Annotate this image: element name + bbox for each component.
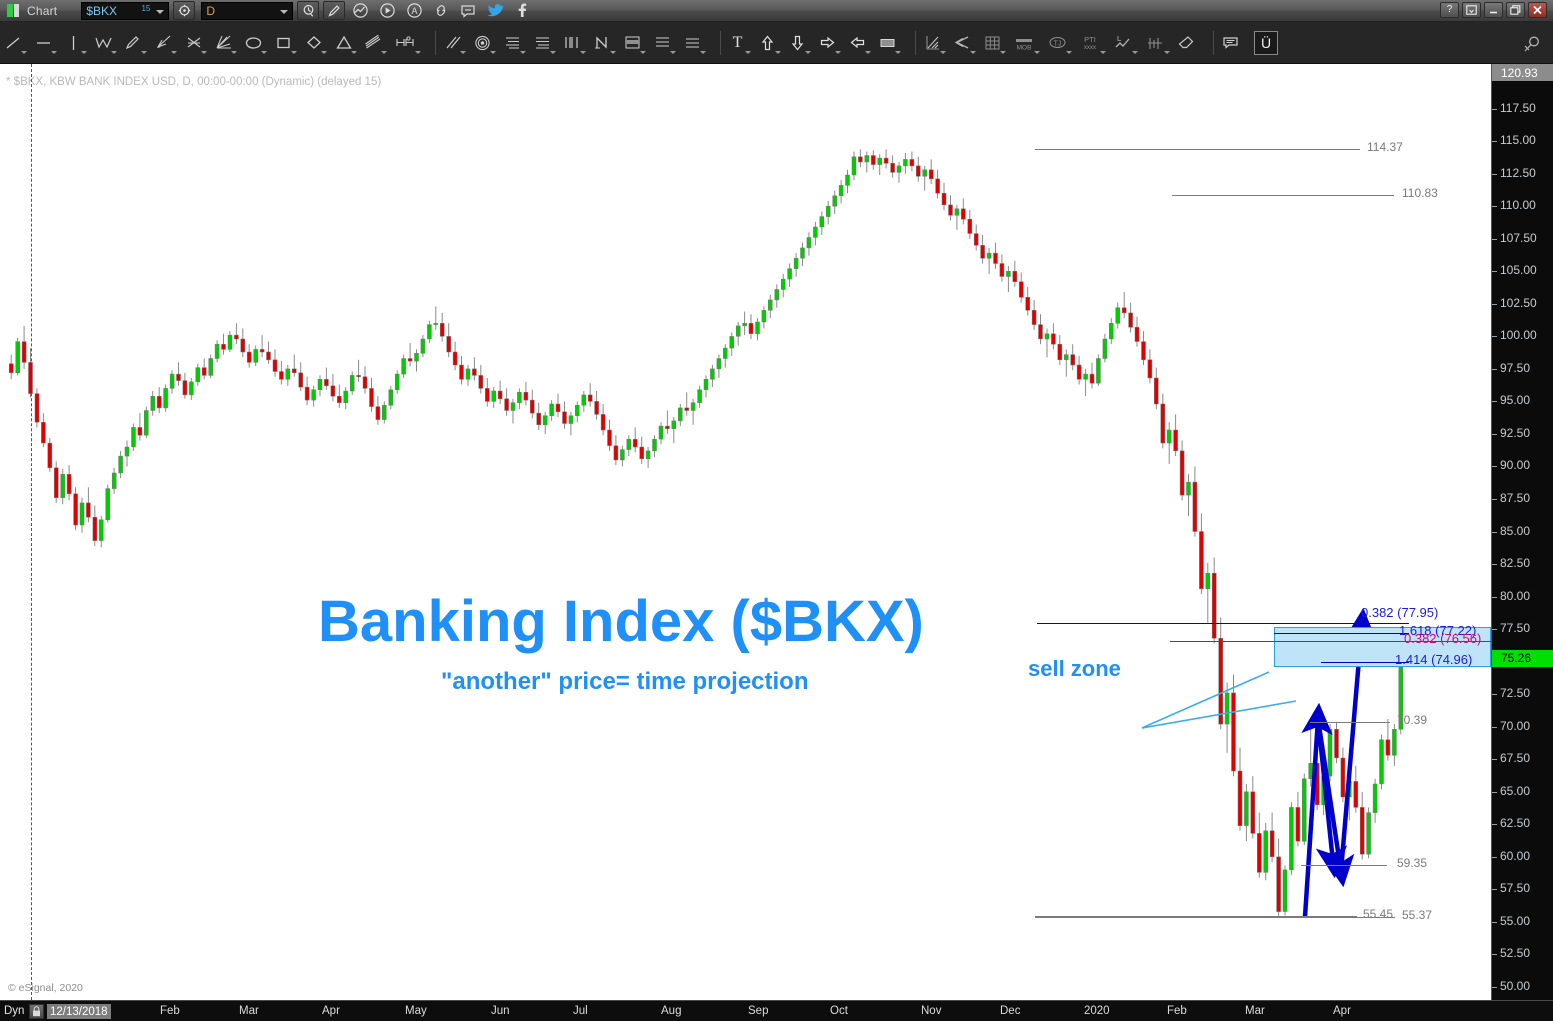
facebook-share-icon[interactable] <box>510 1 534 21</box>
level-55-37-line[interactable] <box>1035 917 1395 918</box>
level-59-35-label: 59.35 <box>1397 856 1427 870</box>
chevron-down-icon[interactable] <box>231 51 237 54</box>
arrow-up-tool[interactable] <box>758 28 777 58</box>
price-tick-67-50: 67.50 <box>1492 759 1553 760</box>
date-tick-sep: Sep <box>748 1005 768 1017</box>
chevron-down-icon[interactable] <box>1164 51 1170 54</box>
parallel-channel-tool[interactable] <box>364 28 383 58</box>
chevron-down-icon[interactable] <box>51 51 57 54</box>
date-tick-apr: Apr <box>1333 1005 1351 1017</box>
horizontal-line-tool[interactable] <box>34 28 53 58</box>
symbol-delay-superscript: 15 <box>141 4 150 13</box>
price-tick-80-00: 80.00 <box>1492 597 1553 598</box>
chevron-down-icon[interactable] <box>940 51 946 54</box>
price-tick-label: 92.50 <box>1500 426 1530 440</box>
pti-tool[interactable]: PTIxxxx <box>1079 28 1102 58</box>
chart-subtitle-annotation[interactable]: "another" price= time projection <box>441 668 809 696</box>
chevron-down-icon[interactable] <box>460 51 466 54</box>
price-tick-92-50: 92.50 <box>1492 434 1553 435</box>
date-tick-mar: Mar <box>1245 1005 1265 1017</box>
price-tick-label: 105.00 <box>1500 263 1537 277</box>
zigzag-tool[interactable] <box>94 28 113 58</box>
candlestick-series <box>0 64 1491 1000</box>
comment-icon[interactable] <box>456 1 480 21</box>
price-tick-77-50: 77.50 <box>1492 629 1553 630</box>
drawing-overlay <box>0 64 1491 1000</box>
price-tick-label: 115.00 <box>1500 133 1536 147</box>
date-tick-nov: Nov <box>921 1005 941 1017</box>
chevron-down-icon[interactable] <box>1100 51 1106 54</box>
price-tick-label: 50.00 <box>1500 979 1530 993</box>
chevron-down-icon[interactable] <box>520 51 526 54</box>
svg-text:L: L <box>1117 36 1122 43</box>
price-tick-label: 55.00 <box>1500 914 1530 928</box>
chevron-down-icon[interactable] <box>321 51 327 54</box>
date-tick-feb: Feb <box>1167 1005 1187 1017</box>
chevron-down-icon[interactable] <box>670 51 676 54</box>
rectangle-tool[interactable] <box>274 28 293 58</box>
cycle-lines-tool[interactable] <box>953 28 972 58</box>
arrow-down-tool[interactable] <box>788 28 807 58</box>
arrow-left-tool[interactable] <box>848 28 867 58</box>
triangle-tool[interactable] <box>334 28 353 58</box>
chart-title-annotation[interactable]: Banking Index ($BKX) <box>318 588 924 655</box>
level-59-35-line[interactable] <box>1301 865 1387 866</box>
level-55-45-label: 55.45 <box>1363 907 1393 921</box>
price-tick-label: 90.00 <box>1500 458 1530 472</box>
undo-toggle-tool[interactable]: Ü <box>1254 31 1278 55</box>
price-tick-95-00: 95.00 <box>1492 401 1553 402</box>
price-tick-87-50: 87.50 <box>1492 499 1553 500</box>
price-tick-label: 62.50 <box>1500 816 1530 830</box>
date-tick-jun: Jun <box>491 1005 510 1017</box>
drawing-toolbar: T MOB TJ PTIxxxx L Ü <box>0 22 1553 64</box>
price-tick-50-00: 50.00 <box>1492 987 1553 988</box>
elliott-wave-tool[interactable] <box>154 28 173 58</box>
chevron-down-icon[interactable] <box>21 51 27 54</box>
date-tick-2020: 2020 <box>1084 1005 1110 1017</box>
eraser-tool[interactable] <box>1177 28 1196 58</box>
price-tick-110-00: 110.00 <box>1492 206 1553 207</box>
ellipse-tool[interactable] <box>244 28 263 58</box>
custom-study-tool[interactable] <box>1145 28 1166 58</box>
chevron-down-icon[interactable] <box>640 51 646 54</box>
price-tick-97-50: 97.50 <box>1492 369 1553 370</box>
price-tick-105-00: 105.00 <box>1492 271 1553 272</box>
annotation-list-tool[interactable] <box>1221 28 1242 58</box>
period-input[interactable]: D <box>201 2 293 20</box>
price-tick-label: 57.50 <box>1500 881 1530 895</box>
chevron-down-icon[interactable] <box>111 51 117 54</box>
grid-tool[interactable] <box>983 28 1002 58</box>
chevron-down-icon[interactable] <box>700 51 706 54</box>
freehand-draw-tool[interactable] <box>124 28 143 58</box>
price-tick-label: 95.00 <box>1500 393 1530 407</box>
svg-text:MOB: MOB <box>1017 44 1032 51</box>
indicator-tool[interactable]: L <box>1113 28 1134 58</box>
chevron-down-icon[interactable] <box>970 51 976 54</box>
price-tick-label: 67.50 <box>1500 751 1530 765</box>
chevron-down-icon[interactable] <box>610 51 616 54</box>
chevron-down-icon[interactable] <box>81 51 87 54</box>
chart-style-icon[interactable] <box>348 1 372 21</box>
gann-box-tool[interactable] <box>623 28 642 58</box>
chevron-down-icon[interactable] <box>835 51 841 54</box>
parallelogram-tool[interactable] <box>304 28 323 58</box>
chevron-down-icon[interactable] <box>201 51 207 54</box>
level-110-83-label: 110.83 <box>1402 186 1438 200</box>
andrews-pitchfork-tool[interactable] <box>683 28 702 58</box>
level-55-37-label: 55.37 <box>1402 908 1432 922</box>
toolbar-divider <box>720 31 721 55</box>
price-tick-65-00: 65.00 <box>1492 792 1553 793</box>
chevron-down-icon[interactable] <box>1132 51 1138 54</box>
price-tick-label: 107.50 <box>1500 231 1537 245</box>
price-tick-label: 102.50 <box>1500 296 1537 310</box>
date-tick-apr: Apr <box>322 1005 340 1017</box>
chevron-down-icon[interactable] <box>171 51 177 54</box>
price-tick-55-00: 55.00 <box>1492 922 1553 923</box>
title-bar: Chart $BKX 15 D A <box>0 0 1553 22</box>
shaded-box-tool[interactable] <box>878 28 897 58</box>
price-tick-102-50: 102.50 <box>1492 304 1553 305</box>
symbol-lookup-button[interactable] <box>173 1 195 20</box>
chart-header-text: * $BKX, KBW BANK INDEX USD, D, 00:00-00:… <box>6 76 381 88</box>
chevron-down-icon[interactable] <box>280 10 288 14</box>
arrow-right-tool[interactable] <box>818 28 837 58</box>
date-tick-may: May <box>405 1005 427 1017</box>
price-tick-label: 117.50 <box>1500 101 1536 115</box>
lock-icon[interactable] <box>29 1004 44 1019</box>
close-button[interactable] <box>1528 2 1547 18</box>
price-tick-label: 97.50 <box>1500 361 1530 375</box>
fib-1414-7496-label: 1.414 (74.96) <box>1395 652 1472 667</box>
price-tick-label: 85.00 <box>1500 524 1530 538</box>
price-plot[interactable]: * $BKX, KBW BANK INDEX USD, D, 00:00-00:… <box>0 64 1491 1000</box>
fib-1618-7722-line[interactable] <box>1274 633 1409 634</box>
chevron-down-icon[interactable] <box>156 10 164 14</box>
price-tick-70-00: 70.00 <box>1492 727 1553 728</box>
price-axis-top-badge: 120.93 <box>1492 64 1553 81</box>
sell-zone-text-annotation[interactable]: sell zone <box>1028 656 1121 682</box>
fib-extension-tool[interactable] <box>533 28 552 58</box>
price-axis[interactable]: 120.00117.50115.00112.50110.00107.50105.… <box>1491 64 1553 1000</box>
link-chart-icon[interactable] <box>429 1 453 21</box>
toolbar-divider <box>915 31 916 55</box>
concentric-circles-tool[interactable] <box>473 28 492 58</box>
parallel-lines-tool[interactable] <box>443 28 462 58</box>
chevron-down-icon[interactable] <box>580 51 586 54</box>
price-tick-label: 87.50 <box>1500 491 1530 505</box>
date-tick-feb: Feb <box>160 1005 180 1017</box>
trendline-tool[interactable] <box>4 28 23 58</box>
chevron-down-icon[interactable] <box>415 51 421 54</box>
cursor-vertical-line <box>31 64 32 1000</box>
chevron-down-icon[interactable] <box>381 51 387 54</box>
chevron-down-icon[interactable] <box>291 51 297 54</box>
chevron-down-icon[interactable] <box>865 51 871 54</box>
mob-tool[interactable]: MOB <box>1013 28 1036 58</box>
price-tick-72-50: 72.50 <box>1492 694 1553 695</box>
date-tick-mar: Mar <box>239 1005 259 1017</box>
error-bar-tool[interactable] <box>394 28 417 58</box>
fib-0382-7795-label: 0.382 (77.95) <box>1361 605 1438 620</box>
level-114-37-line[interactable] <box>1035 149 1360 150</box>
chevron-down-icon[interactable] <box>895 51 901 54</box>
fib-time-zones-tool[interactable] <box>563 28 582 58</box>
vertical-line-tool[interactable] <box>64 28 83 58</box>
dock-button[interactable] <box>1462 2 1481 18</box>
fib-0382-7656-label: 0.382 (76.56) <box>1404 631 1481 646</box>
chevron-down-icon[interactable] <box>1066 51 1072 54</box>
period-value: D <box>206 4 215 18</box>
zigzag-measure-tool[interactable] <box>593 28 612 58</box>
play-replay-icon[interactable] <box>375 1 399 21</box>
window-title: Chart <box>27 4 57 18</box>
level-70-39-label: 70.39 <box>1397 713 1427 727</box>
chevron-down-icon[interactable] <box>490 51 496 54</box>
crossed-lines-tool[interactable] <box>184 28 203 58</box>
chevron-down-icon[interactable] <box>1034 51 1040 54</box>
price-tick-label: 112.50 <box>1500 166 1536 180</box>
price-tick-117-50: 117.50 <box>1492 109 1553 110</box>
current-price-badge: 75.26 <box>1492 650 1553 667</box>
chevron-down-icon[interactable] <box>351 51 357 54</box>
price-tick-60-00: 60.00 <box>1492 857 1553 858</box>
pencil-annotate-icon[interactable] <box>323 1 345 20</box>
time-template-button[interactable] <box>297 1 319 20</box>
fan-lines-tool[interactable] <box>214 28 233 58</box>
chart-application-window: Chart $BKX 15 D A <box>0 0 1553 1021</box>
level-70-39-line[interactable] <box>1310 722 1390 723</box>
price-tick-90-00: 90.00 <box>1492 466 1553 467</box>
price-tick-115-00: 115.00 <box>1492 141 1553 142</box>
price-tick-label: 82.50 <box>1500 556 1530 570</box>
fib-0382-7795-line[interactable] <box>1037 623 1409 624</box>
window-controls: ? <box>1440 2 1547 18</box>
price-tick-label: 100.00 <box>1500 328 1537 342</box>
price-tick-label: 80.00 <box>1500 589 1530 603</box>
fib-retracement-tool[interactable] <box>503 28 522 58</box>
chevron-down-icon[interactable] <box>1000 51 1006 54</box>
twitter-share-icon[interactable] <box>483 1 507 21</box>
alert-advanced-icon[interactable]: A <box>402 1 426 21</box>
chevron-down-icon[interactable] <box>775 51 781 54</box>
price-tick-label: 110.00 <box>1500 198 1536 212</box>
minimize-button[interactable] <box>1484 2 1503 18</box>
start-date-field[interactable]: 12/13/2018 <box>47 1004 111 1019</box>
svg-text:TJ: TJ <box>1054 41 1062 48</box>
toolbar-divider <box>435 31 436 55</box>
tj-tool[interactable]: TJ <box>1047 28 1068 58</box>
chevron-down-icon[interactable] <box>261 51 267 54</box>
text-tool[interactable]: T <box>728 28 747 58</box>
toolbar-divider <box>1213 31 1214 55</box>
price-tick-62-50: 62.50 <box>1492 824 1553 825</box>
price-tick-label: 77.50 <box>1500 621 1530 635</box>
price-tick-label: 65.00 <box>1500 784 1530 798</box>
price-tick-label: 70.00 <box>1500 719 1530 733</box>
regression-tool[interactable] <box>923 28 942 58</box>
chart-canvas-area[interactable]: * $BKX, KBW BANK INDEX USD, D, 00:00-00:… <box>0 64 1553 1000</box>
price-tick-112-50: 112.50 <box>1492 174 1553 175</box>
svg-text:PTI: PTI <box>1084 35 1096 44</box>
svg-text:xxxx: xxxx <box>1084 45 1096 51</box>
symbol-input[interactable]: $BKX 15 <box>81 2 169 20</box>
price-tick-52-50: 52.50 <box>1492 954 1553 955</box>
chevron-down-icon[interactable] <box>805 51 811 54</box>
date-axis[interactable]: Dyn 12/13/2018 FebMarAprMayJunJulAugSepO… <box>0 1000 1553 1021</box>
price-tick-107-50: 107.50 <box>1492 239 1553 240</box>
copyright-watermark: © eSignal, 2020 <box>8 982 83 994</box>
restore-button[interactable] <box>1506 2 1525 18</box>
price-tick-85-00: 85.00 <box>1492 532 1553 533</box>
chart-panel-icon <box>7 4 23 17</box>
chevron-down-icon[interactable] <box>550 51 556 54</box>
price-tick-label: 72.50 <box>1500 686 1530 700</box>
date-tick-oct: Oct <box>830 1005 848 1017</box>
price-tick-100-00: 100.00 <box>1492 336 1553 337</box>
price-tick-label: 52.50 <box>1500 946 1530 960</box>
price-tick-82-50: 82.50 <box>1492 564 1553 565</box>
date-tick-dec: Dec <box>1000 1005 1020 1017</box>
magnifier-icon[interactable] <box>1522 35 1541 57</box>
date-tick-jul: Jul <box>573 1005 588 1017</box>
date-tick-aug: Aug <box>661 1005 681 1017</box>
price-tick-label: 60.00 <box>1500 849 1530 863</box>
price-tick-57-50: 57.50 <box>1492 889 1553 890</box>
symbol-value: $BKX <box>86 4 117 18</box>
help-button[interactable]: ? <box>1440 2 1459 18</box>
chevron-down-icon[interactable] <box>141 51 147 54</box>
speed-lines-tool[interactable] <box>653 28 672 58</box>
chevron-down-icon[interactable] <box>745 51 751 54</box>
level-114-37-label: 114.37 <box>1367 140 1403 154</box>
dyn-label: Dyn <box>4 1005 24 1017</box>
level-110-83-line[interactable] <box>1172 195 1394 196</box>
svg-text:A: A <box>411 6 417 16</box>
